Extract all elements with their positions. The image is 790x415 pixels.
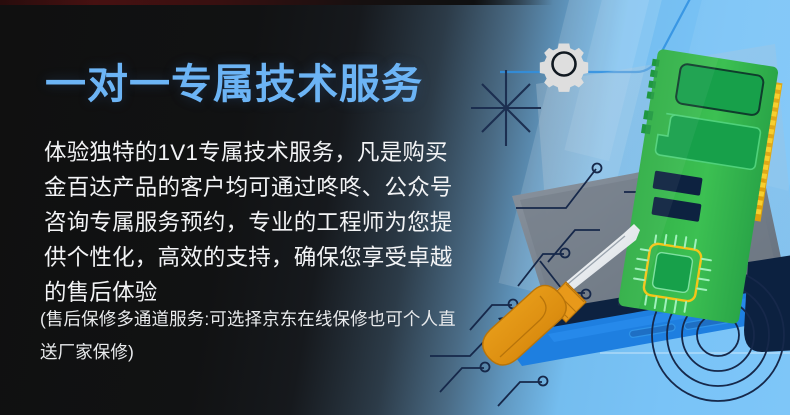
body-text: 体验独特的1V1专属技术服务，凡是购买金百达产品的客户均可通过咚咚、公众号咨询专… <box>44 135 464 310</box>
page-title: 一对一专属技术服务 <box>45 62 423 107</box>
warranty-note: (售后保修多通道服务:可选择京东在线保修也可个人直送厂家保修) <box>40 303 470 369</box>
gear-icon <box>540 44 588 92</box>
service-banner: 一对一专属技术服务 体验独特的1V1专属技术服务，凡是购买金百达产品的客户均可通… <box>0 0 790 415</box>
starburst-icon <box>471 70 541 146</box>
